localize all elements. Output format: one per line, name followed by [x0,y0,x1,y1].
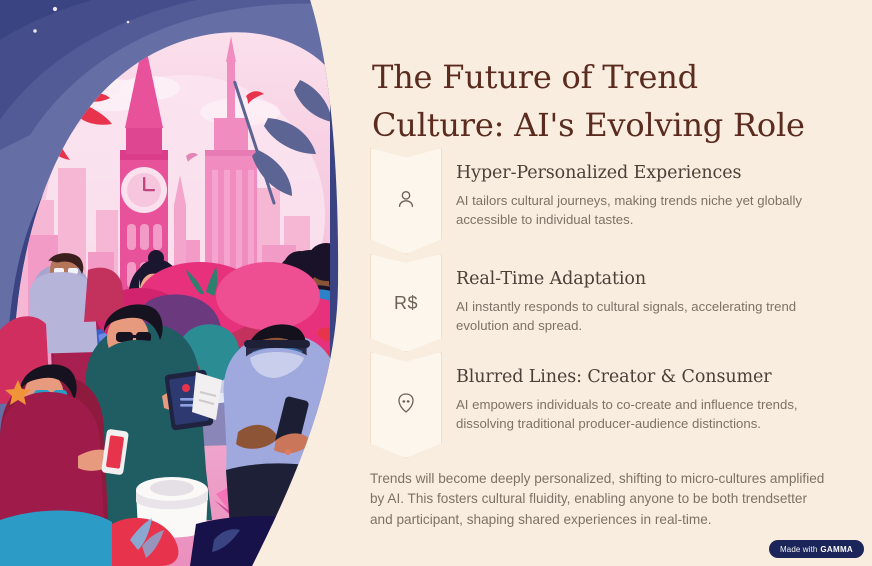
slide-root: The Future of Trend Culture: AI's Evolvi… [0,0,872,566]
feature-body-2: AI instantly responds to cultural signal… [456,297,828,335]
feature-icon-badge-2: R$ [370,254,442,352]
feature-item-real-time-adaptation[interactable]: R$ Real-Time Adaptation AI instantly res… [370,254,840,352]
gamma-made-with-label: Made with [780,545,817,554]
feature-list: Hyper-Personalized Experiences AI tailor… [370,148,840,458]
feature-text-3: Blurred Lines: Creator & Consumer AI emp… [442,352,828,433]
feature-heading-2: Real-Time Adaptation [456,268,828,290]
feature-item-blurred-lines-creator-consumer[interactable]: Blurred Lines: Creator & Consumer AI emp… [370,352,840,458]
illustration-artwork [0,0,345,566]
feature-text-1: Hyper-Personalized Experiences AI tailor… [442,148,828,229]
content-column: The Future of Trend Culture: AI's Evolvi… [370,0,840,566]
page-title-line-2: Culture: AI's Evolving Role [372,106,805,144]
page-title-line-1: The Future of Trend [372,58,698,96]
feature-item-hyper-personalized-experiences[interactable]: Hyper-Personalized Experiences AI tailor… [370,148,840,254]
person-icon [395,188,417,215]
made-with-gamma-badge[interactable]: Made with GAMMA [769,540,864,558]
feature-icon-badge-3 [370,352,442,458]
page-title: The Future of Trend Culture: AI's Evolvi… [372,53,832,149]
feature-body-1: AI tailors cultural journeys, making tre… [456,191,828,229]
hero-illustration [0,0,345,566]
feature-text-2: Real-Time Adaptation AI instantly respon… [442,254,828,335]
brazilian-real-currency-icon: R$ [394,293,418,314]
gamma-brand-label: GAMMA [820,545,853,554]
summary-paragraph: Trends will become deeply personalized, … [370,469,830,531]
feature-body-3: AI empowers individuals to co-create and… [456,395,828,433]
feature-heading-1: Hyper-Personalized Experiences [456,162,828,184]
feature-icon-badge-1 [370,148,442,254]
feature-heading-3: Blurred Lines: Creator & Consumer [456,366,828,388]
alien-face-icon [394,391,418,420]
